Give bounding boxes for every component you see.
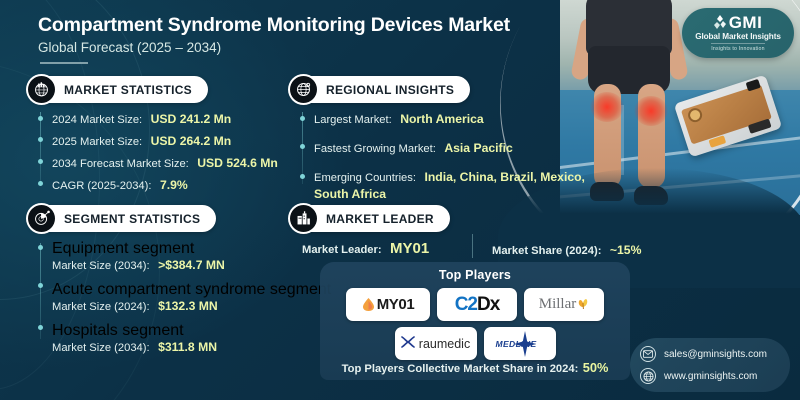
list-item: 2024 Market Size: USD 241.2 Mn xyxy=(52,110,231,128)
segment-statistics-header: SEGMENT STATISTICS xyxy=(28,205,216,232)
market-leader-divider xyxy=(472,234,473,258)
page-subtitle: Global Forecast (2025 – 2034) xyxy=(38,40,221,55)
list-item: Market Size (2034): >$384.7 MN xyxy=(52,256,225,274)
envelope-icon xyxy=(640,346,656,362)
segment-label: Market Size (2034): xyxy=(52,342,150,354)
player-name-medline: MEDLINE xyxy=(496,339,537,349)
market-share-value: ~15% xyxy=(610,243,642,257)
segment-label: Market Size (2024): xyxy=(52,301,150,313)
player-logo-my01[interactable]: MY01 xyxy=(346,288,430,321)
market-leader-name-label: Market Leader: xyxy=(302,244,382,256)
top-players-panel: Top Players MY01 C2Dx xyxy=(320,262,630,380)
market-leader-name-value: MY01 xyxy=(390,240,429,257)
list-item: Market Size (2024): $132.3 MN xyxy=(52,297,218,315)
bullet-icon xyxy=(300,116,305,121)
factory-building-icon xyxy=(290,205,317,232)
player-logo-raumedic[interactable]: raumedic xyxy=(395,327,477,360)
segment-statistics-label: SEGMENT STATISTICS xyxy=(64,212,200,226)
market-statistics-label: MARKET STATISTICS xyxy=(64,83,192,97)
player-logo-millar[interactable]: Millar xyxy=(524,288,604,321)
list-item: 2025 Market Size: USD 264.2 Mn xyxy=(52,132,231,150)
top-players-row-2: raumedic MEDLINE xyxy=(320,327,630,360)
gmi-full-name: Global Market Insights xyxy=(695,32,781,41)
segment-value: >$384.7 MN xyxy=(158,258,225,272)
market-leader-header: MARKET LEADER xyxy=(290,205,450,232)
stat-value: USD 241.2 Mn xyxy=(151,112,232,126)
segment-chart-icon xyxy=(28,205,55,232)
top-players-row-1: MY01 C2Dx Millar xyxy=(320,288,630,321)
globe-icon xyxy=(290,76,317,103)
stat-value: USD 524.6 Mn xyxy=(197,156,278,170)
droplet-icon xyxy=(362,297,375,312)
stat-label: 2025 Market Size: xyxy=(52,136,142,148)
top-players-footer: Top Players Collective Market Share in 2… xyxy=(320,359,630,377)
player-name-millar: Millar xyxy=(539,296,577,313)
infographic-canvas: Compartment Syndrome Monitoring Devices … xyxy=(0,0,800,400)
player-logo-c2dx[interactable]: C2Dx xyxy=(437,288,517,321)
gmi-diamond-icon xyxy=(714,15,727,30)
player-name-c2dx-part1: C2 xyxy=(455,294,477,315)
contact-email: sales@gminsights.com xyxy=(664,349,767,360)
contact-email-row[interactable]: sales@gminsights.com xyxy=(640,346,780,362)
region-label: Fastest Growing Market: xyxy=(314,143,436,155)
region-label: Largest Market: xyxy=(314,114,392,126)
region-label: Emerging Countries: xyxy=(314,172,416,184)
regional-insights-label: REGIONAL INSIGHTS xyxy=(326,83,454,97)
knee-pain-highlight xyxy=(590,92,624,122)
collective-share-value: 50% xyxy=(583,360,609,375)
market-leader-label: MARKET LEADER xyxy=(326,212,434,226)
player-logo-medline[interactable]: MEDLINE xyxy=(484,327,556,360)
bullet-icon xyxy=(38,325,43,330)
stat-label: 2034 Forecast Market Size: xyxy=(52,158,189,170)
bullet-icon xyxy=(38,245,43,250)
top-players-title: Top Players xyxy=(320,268,630,282)
gmi-tagline: Insights to Innovation xyxy=(711,43,764,52)
regional-insights-header: REGIONAL INSIGHTS xyxy=(290,76,470,103)
stat-label: 2024 Market Size: xyxy=(52,114,142,126)
segment-value: $132.3 MN xyxy=(158,299,218,313)
player-name-raumedic: raumedic xyxy=(419,337,470,351)
list-item: Market Size (2034): $311.8 MN xyxy=(52,338,217,356)
region-value: North America xyxy=(400,112,484,126)
contact-website-row[interactable]: www.gminsights.com xyxy=(640,368,780,384)
region-value: India, China, Brazil, Mexico, xyxy=(424,170,585,184)
bullet-icon xyxy=(38,137,43,142)
segment-statistics-rail xyxy=(40,243,41,339)
stat-value: USD 264.2 Mn xyxy=(151,134,232,148)
region-value-line2: South Africa xyxy=(314,187,386,201)
list-item: Fastest Growing Market: Asia Pacific xyxy=(314,139,513,157)
market-share-row: Market Share (2024): ~15% xyxy=(492,241,641,259)
region-value-overflow: South Africa xyxy=(314,185,386,203)
market-statistics-rail xyxy=(40,112,41,186)
butterfly-icon xyxy=(577,298,589,312)
subtitle-divider xyxy=(40,62,88,64)
x-icon xyxy=(401,336,415,351)
bullet-icon xyxy=(38,159,43,164)
player-name-c2dx-part2: Dx xyxy=(477,294,499,315)
market-leader-row: Market Leader: MY01 xyxy=(302,240,429,258)
market-statistics-header: MARKET STATISTICS xyxy=(28,76,208,103)
globe-chart-icon xyxy=(28,76,55,103)
gmi-wordmark: GMI xyxy=(729,14,763,31)
contact-website: www.gminsights.com xyxy=(664,371,757,382)
market-share-label: Market Share (2024): xyxy=(492,245,601,257)
list-item: Emerging Countries: India, China, Brazil… xyxy=(314,168,585,186)
bullet-icon xyxy=(38,283,43,288)
segment-value: $311.8 MN xyxy=(158,340,217,354)
collective-share-label: Top Players Collective Market Share in 2… xyxy=(342,363,579,375)
knee-pain-highlight xyxy=(634,96,668,126)
regional-insights-rail xyxy=(302,112,303,184)
segment-label: Market Size (2034): xyxy=(52,260,150,272)
list-item: CAGR (2025-2034): 7.9% xyxy=(52,176,188,194)
stat-value: 7.9% xyxy=(160,178,188,192)
bullet-icon xyxy=(300,144,305,149)
list-item: Largest Market: North America xyxy=(314,110,484,128)
region-value: Asia Pacific xyxy=(444,141,512,155)
bullet-icon xyxy=(38,181,43,186)
bullet-icon xyxy=(38,116,43,121)
player-name-my01: MY01 xyxy=(377,296,415,313)
globe-icon xyxy=(640,368,656,384)
contact-panel: sales@gminsights.com www.gminsights.com xyxy=(630,338,790,392)
bullet-icon xyxy=(300,174,305,179)
stat-label: CAGR (2025-2034): xyxy=(52,180,152,192)
gmi-logo: GMI Global Market Insights Insights to I… xyxy=(682,8,794,58)
page-title: Compartment Syndrome Monitoring Devices … xyxy=(38,14,510,37)
list-item: 2034 Forecast Market Size: USD 524.6 Mn xyxy=(52,154,278,172)
